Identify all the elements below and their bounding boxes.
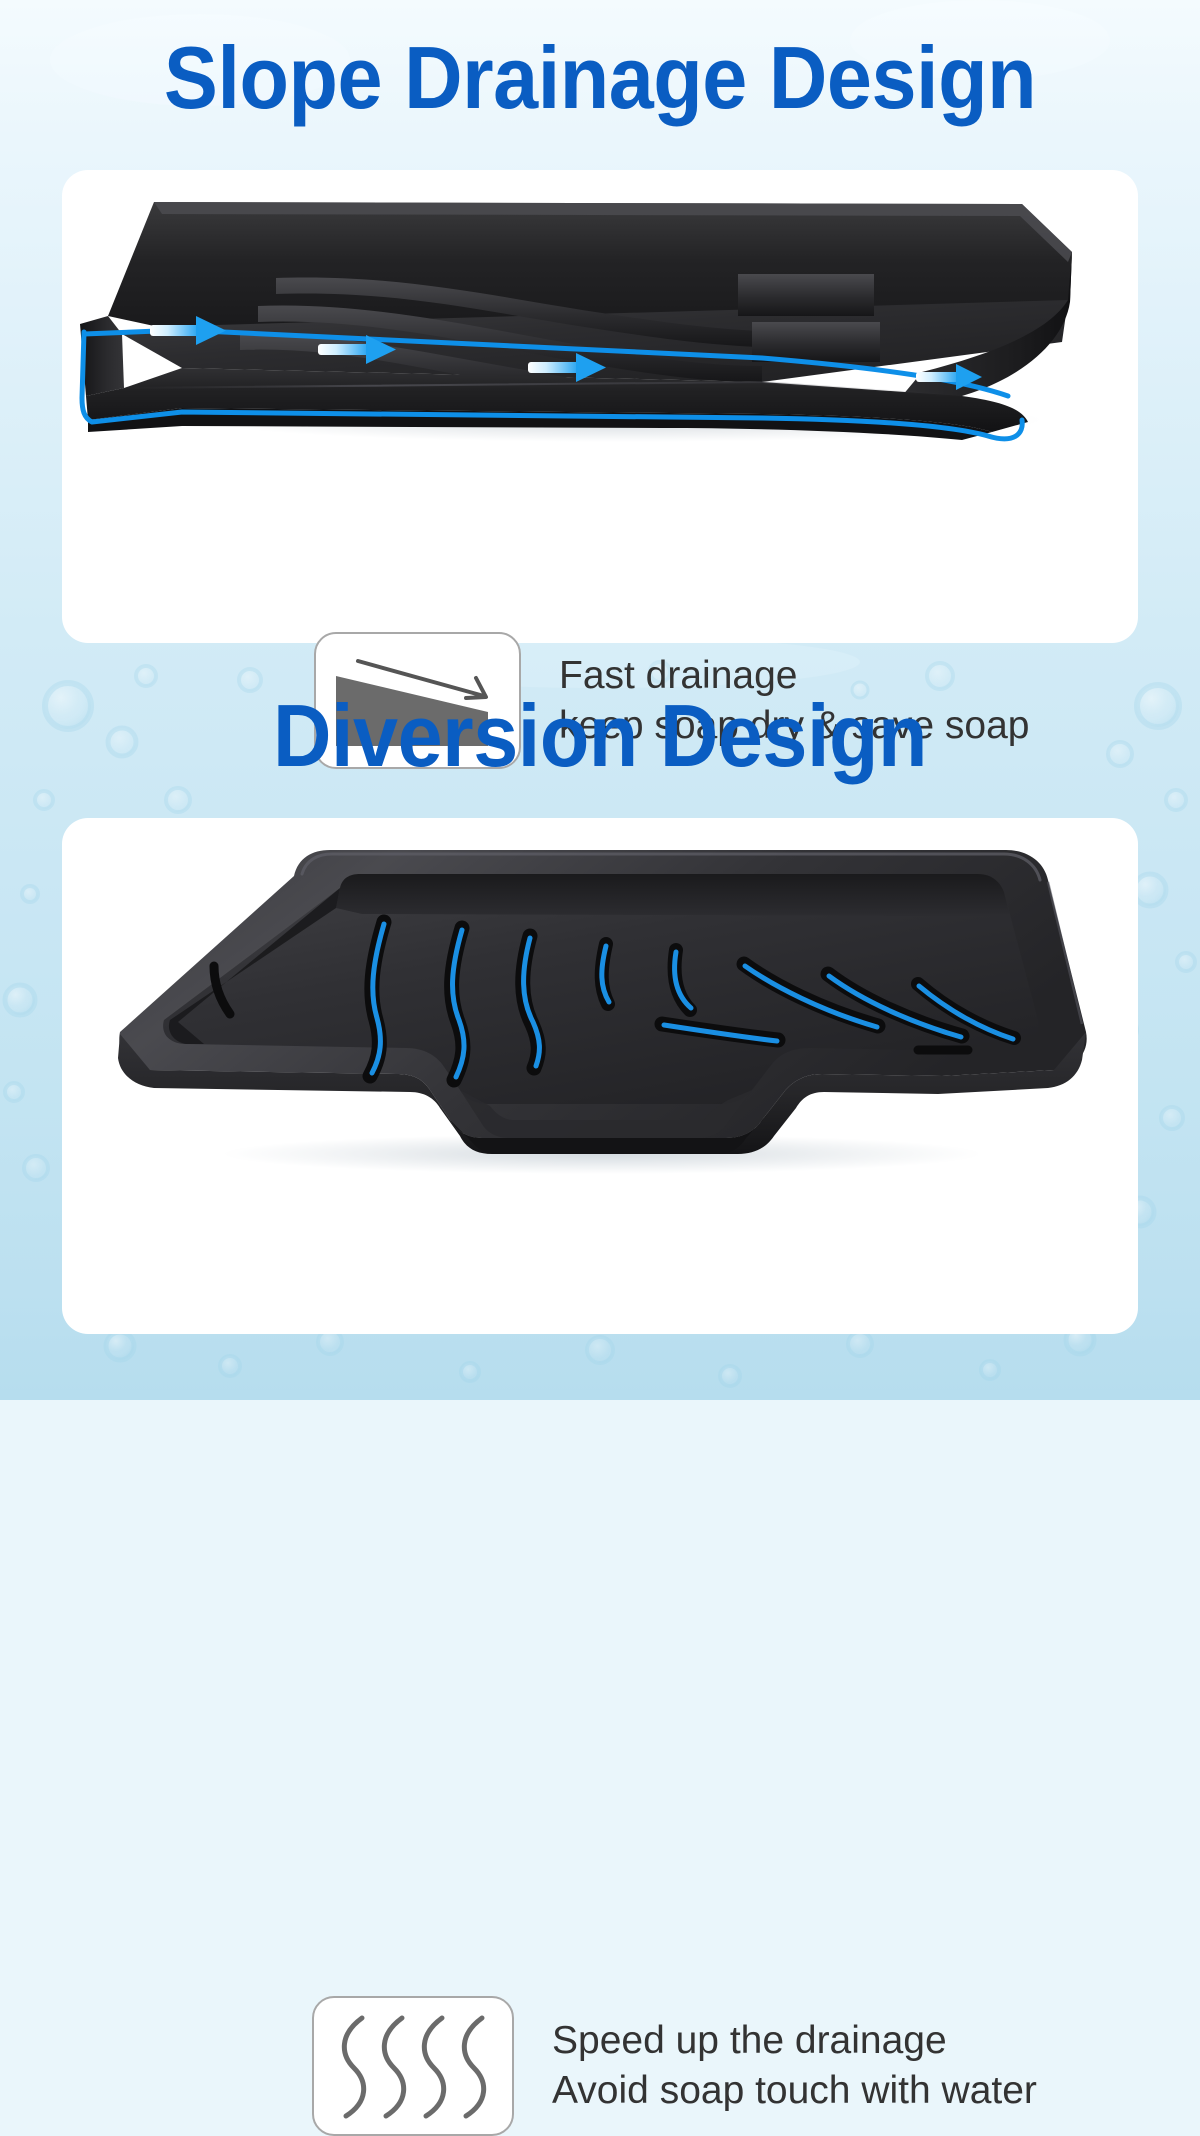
panel-diversion-design: Speed up the drainage Avoid soap touch w… bbox=[62, 818, 1138, 1334]
product-image-silicone-soap-tray-top-angle-view bbox=[62, 824, 1138, 1184]
product-image-silicone-soap-tray-side-view bbox=[62, 182, 1138, 447]
wavy-lines-icon bbox=[312, 1996, 514, 2136]
panel-slope-drainage: Fast drainage keep soap dry & save soap bbox=[62, 170, 1138, 643]
section-heading-slope-drainage: Slope Drainage Design bbox=[48, 34, 1152, 122]
section-heading-diversion-design: Diversion Design bbox=[48, 692, 1152, 780]
feature-callout-speed-up-drainage: Speed up the drainage Avoid soap touch w… bbox=[312, 1996, 1037, 2136]
feature-text-speed-up-drainage: Speed up the drainage Avoid soap touch w… bbox=[552, 2016, 1037, 2116]
feature-line-2: Avoid soap touch with water bbox=[552, 2066, 1037, 2116]
feature-line-1: Speed up the drainage bbox=[552, 2016, 1037, 2066]
